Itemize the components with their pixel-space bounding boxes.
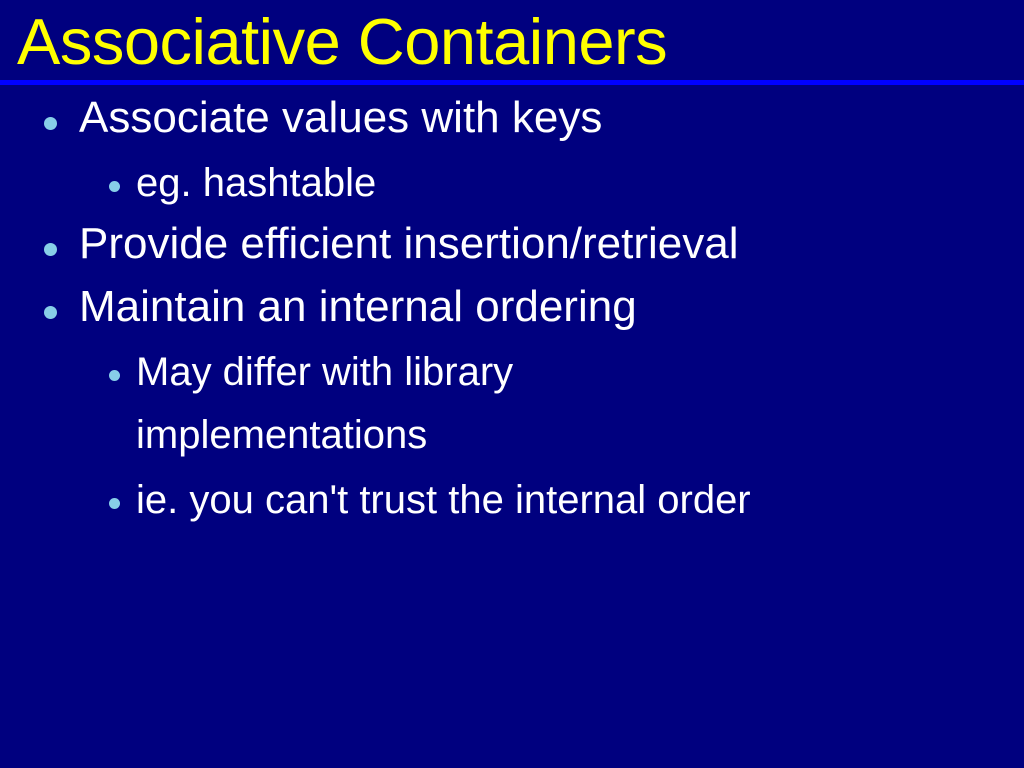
slide-body-bullet-list: Associate values with keys eg. hashtable… — [0, 92, 1024, 535]
list-item-label: implementations — [136, 404, 427, 467]
list-item: Associate values with keys — [0, 92, 1024, 155]
list-item: Maintain an internal ordering — [0, 281, 1024, 344]
round-bullet-icon — [44, 117, 57, 130]
round-bullet-icon — [44, 306, 57, 319]
list-item-label: ie. you can't trust the internal order — [136, 469, 751, 532]
presentation-slide: Associative Containers Associate values … — [0, 0, 1024, 768]
list-item: May differ with library — [0, 344, 1024, 407]
round-bullet-icon — [109, 370, 120, 381]
list-item-label: May differ with library — [136, 341, 513, 404]
list-item-continuation: implementations — [0, 407, 1024, 472]
list-item-label: eg. hashtable — [136, 152, 376, 215]
list-item-label: Maintain an internal ordering — [79, 275, 637, 338]
list-item: ie. you can't trust the internal order — [0, 472, 1024, 535]
round-bullet-icon — [109, 498, 120, 509]
slide-title-area: Associative Containers — [0, 0, 1024, 86]
round-bullet-icon — [109, 181, 120, 192]
list-item-label: Provide efficient insertion/retrieval — [79, 212, 739, 275]
list-item-label: Associate values with keys — [79, 86, 602, 149]
title-divider — [0, 80, 1024, 85]
round-bullet-icon — [44, 243, 57, 256]
list-item: eg. hashtable — [0, 155, 1024, 218]
list-item: Provide efficient insertion/retrieval — [0, 218, 1024, 281]
page-title: Associative Containers — [17, 5, 667, 79]
